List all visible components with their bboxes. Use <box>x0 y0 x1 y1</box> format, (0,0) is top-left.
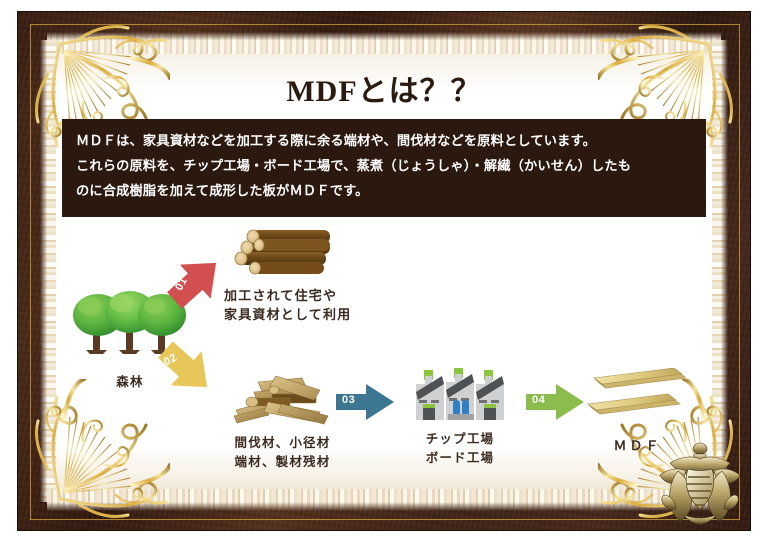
diagram-arrow-04: 04 <box>524 382 586 422</box>
lumber-scraps-icon <box>228 368 338 426</box>
mdf-boards-icon <box>584 368 692 426</box>
arrow-number-04: 04 <box>532 394 545 406</box>
description-band: ＭＤＦは、家具資材などを加工する際に余る端材や、間伐材などを原料としています。 … <box>62 119 706 217</box>
diagram-node-logs: 加工されて住宅や 家具資材として利用 <box>222 224 402 324</box>
description-line-2: これらの原料を、チップ工場・ボード工場で、蒸煮（じょうしゃ）・解繊（かいせん）し… <box>76 153 692 178</box>
description-line-3: のに合成樹脂を加えて成形した板がＭＤＦです。 <box>76 178 692 203</box>
node-label-factory: チップ工場 ボード工場 <box>395 430 525 468</box>
description-line-1: ＭＤＦは、家具資材などを加工する際に余る端材や、間伐材などを原料としています。 <box>76 128 692 153</box>
node-label-logs: 加工されて住宅や 家具資材として利用 <box>222 286 402 324</box>
arrow-number-03: 03 <box>342 394 355 406</box>
diagram-arrow-01: 01 <box>163 252 229 310</box>
slide-canvas: MDFとは？？ ＭＤＦは、家具資材などを加工する際に余る端材や、間伐材などを原料… <box>0 0 768 543</box>
diagram-node-mdf: ＭＤＦ <box>580 368 695 455</box>
page-title: MDFとは？？ <box>0 66 768 110</box>
node-label-mdf: ＭＤＦ <box>580 436 695 455</box>
arrow-up-right-icon <box>163 252 229 310</box>
diagram-arrow-03: 03 <box>334 382 396 422</box>
factory-icon <box>412 362 508 424</box>
diagram-node-factory: チップ工場 ボード工場 <box>395 362 525 468</box>
logs-icon <box>228 224 340 280</box>
node-label-offcuts: 間伐材、小径材 端材、製材残材 <box>200 434 365 472</box>
